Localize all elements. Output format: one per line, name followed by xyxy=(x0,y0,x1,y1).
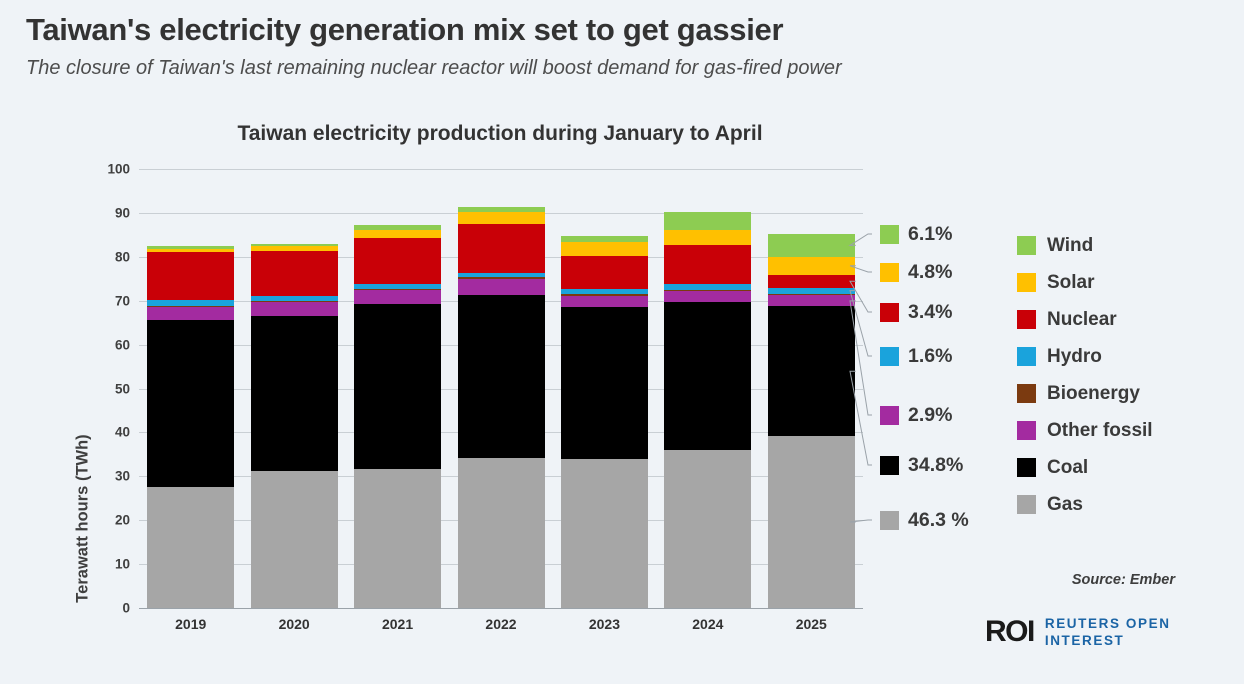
x-axis-tick-label: 2021 xyxy=(354,616,441,632)
legend-item-other-fossil[interactable]: Other fossil xyxy=(1017,412,1153,449)
chart-page: { "headline": { "title": "Taiwan's elect… xyxy=(0,0,1244,673)
legend-item-gas[interactable]: Gas xyxy=(1017,486,1153,523)
legend-swatch-solar xyxy=(1017,273,1036,292)
legend-swatch-other-fossil xyxy=(1017,421,1036,440)
legend-swatch-wind xyxy=(1017,236,1036,255)
legend-swatch-hydro xyxy=(1017,347,1036,366)
logo-mark: ROI xyxy=(985,617,1034,647)
callout-wind: 6.1% xyxy=(880,223,952,246)
logo-line-2: INTEREST xyxy=(1045,632,1171,649)
callout-percent-label: 2.9% xyxy=(908,404,952,427)
x-axis-tick-label: 2019 xyxy=(147,616,234,632)
x-axis-tick-label: 2024 xyxy=(664,616,751,632)
callout-percent-label: 6.1% xyxy=(908,223,952,246)
legend-label: Wind xyxy=(1047,235,1093,257)
legend-swatch-gas xyxy=(1017,495,1036,514)
legend-swatch-coal xyxy=(1017,458,1036,477)
logo-line-1: REUTERS OPEN xyxy=(1045,615,1171,632)
callout-percent-label: 46.3 % xyxy=(908,509,969,532)
legend-label: Coal xyxy=(1047,457,1088,479)
legend-swatch-bioenergy xyxy=(1017,384,1036,403)
callout-nuclear: 3.4% xyxy=(880,301,952,324)
callout-swatch xyxy=(880,347,899,366)
legend-label: Nuclear xyxy=(1047,309,1117,331)
callout-swatch xyxy=(880,406,899,425)
callout-swatch xyxy=(880,225,899,244)
legend-item-hydro[interactable]: Hydro xyxy=(1017,338,1153,375)
x-axis-tick-label: 2020 xyxy=(251,616,338,632)
callout-percent-label: 1.6% xyxy=(908,345,952,368)
callout-other-fossil: 2.9% xyxy=(880,404,952,427)
callout-swatch xyxy=(880,303,899,322)
legend-label: Other fossil xyxy=(1047,420,1153,442)
legend-item-nuclear[interactable]: Nuclear xyxy=(1017,301,1153,338)
callout-hydro: 1.6% xyxy=(880,345,952,368)
callout-solar: 4.8% xyxy=(880,261,952,284)
callout-percent-label: 3.4% xyxy=(908,301,952,324)
legend-item-wind[interactable]: Wind xyxy=(1017,227,1153,264)
legend-swatch-nuclear xyxy=(1017,310,1036,329)
legend-label: Gas xyxy=(1047,494,1083,516)
legend-label: Bioenergy xyxy=(1047,383,1140,405)
legend-label: Solar xyxy=(1047,272,1095,294)
source-note: Source: Ember xyxy=(1072,572,1175,588)
legend-item-coal[interactable]: Coal xyxy=(1017,449,1153,486)
logo-wordmark: REUTERS OPEN INTEREST xyxy=(1045,615,1171,650)
x-axis-tick-label: 2022 xyxy=(458,616,545,632)
callout-swatch xyxy=(880,456,899,475)
callout-swatch xyxy=(880,263,899,282)
callout-swatch xyxy=(880,511,899,530)
legend: WindSolarNuclearHydroBioenergyOther foss… xyxy=(1017,227,1153,523)
callout-percent-label: 34.8% xyxy=(908,454,963,477)
x-axis-tick-label: 2023 xyxy=(561,616,648,632)
legend-item-solar[interactable]: Solar xyxy=(1017,264,1153,301)
callout-gas: 46.3 % xyxy=(880,509,969,532)
callout-coal: 34.8% xyxy=(880,454,963,477)
x-axis-tick-label: 2025 xyxy=(768,616,855,632)
callout-percent-label: 4.8% xyxy=(908,261,952,284)
legend-item-bioenergy[interactable]: Bioenergy xyxy=(1017,375,1153,412)
legend-label: Hydro xyxy=(1047,346,1102,368)
reuters-open-interest-logo: ROI REUTERS OPEN INTEREST xyxy=(985,615,1171,650)
